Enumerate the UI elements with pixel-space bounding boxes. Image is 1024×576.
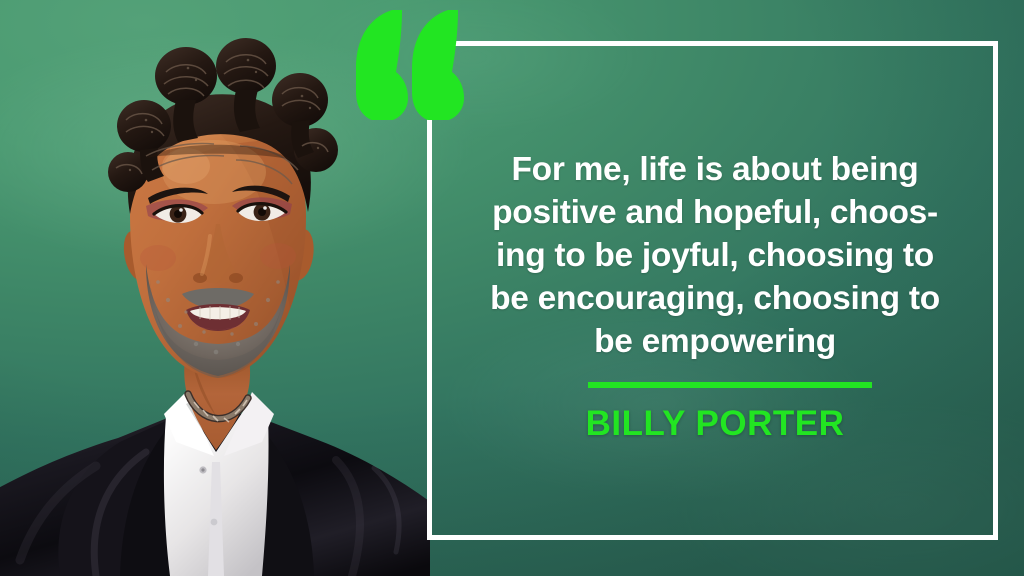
quote-line: For me, life is about being [455,148,975,191]
opening-double-quote-icon [352,2,464,120]
quote-line: be encouraging, choosing to [455,277,975,320]
quote-line: ing to be joyful, choosing to [455,234,975,277]
attribution-name: BILLY PORTER [455,404,975,444]
quote-line: positive and hopeful, choos- [455,191,975,234]
quote-line: be empowering [455,320,975,363]
quote-text: For me, life is about being positive and… [455,148,975,363]
quote-card: For me, life is about being positive and… [0,0,1024,576]
green-divider-rule [588,382,872,388]
